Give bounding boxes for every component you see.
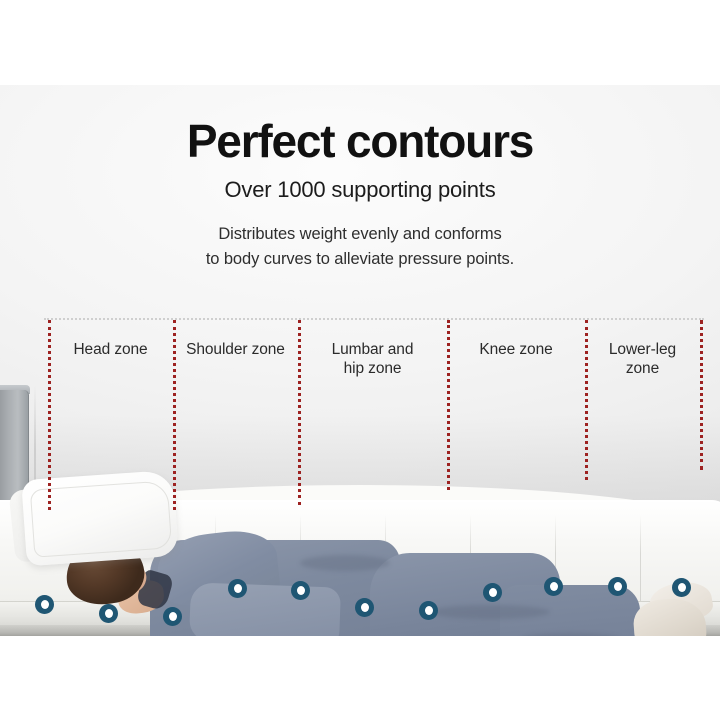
promo-banner: Head zone Shoulder zone Lumbar andhip zo…	[0, 0, 720, 720]
body-copy-line-1: Distributes weight evenly and conforms	[218, 225, 501, 243]
support-point-marker	[35, 595, 54, 614]
page-title: Perfect contours	[0, 0, 720, 164]
support-point-marker	[608, 577, 627, 596]
support-point-marker	[355, 598, 374, 617]
fabric-fold	[300, 555, 390, 571]
pillow-seam	[30, 480, 172, 557]
body-copy: Distributes weight evenly and conforms t…	[0, 202, 720, 272]
fabric-fold	[430, 605, 550, 619]
support-point-marker	[163, 607, 182, 626]
header-block: Perfect contours Over 1000 supporting po…	[0, 0, 720, 272]
support-point-marker	[291, 581, 310, 600]
support-point-marker	[228, 579, 247, 598]
support-point-marker	[419, 601, 438, 620]
support-point-marker	[544, 577, 563, 596]
sleeper-arm	[189, 582, 341, 636]
body-copy-line-2: to body curves to alleviate pressure poi…	[206, 250, 514, 268]
support-point-marker	[483, 583, 502, 602]
subtitle: Over 1000 supporting points	[0, 164, 720, 202]
support-point-marker	[672, 578, 691, 597]
support-point-marker	[99, 604, 118, 623]
